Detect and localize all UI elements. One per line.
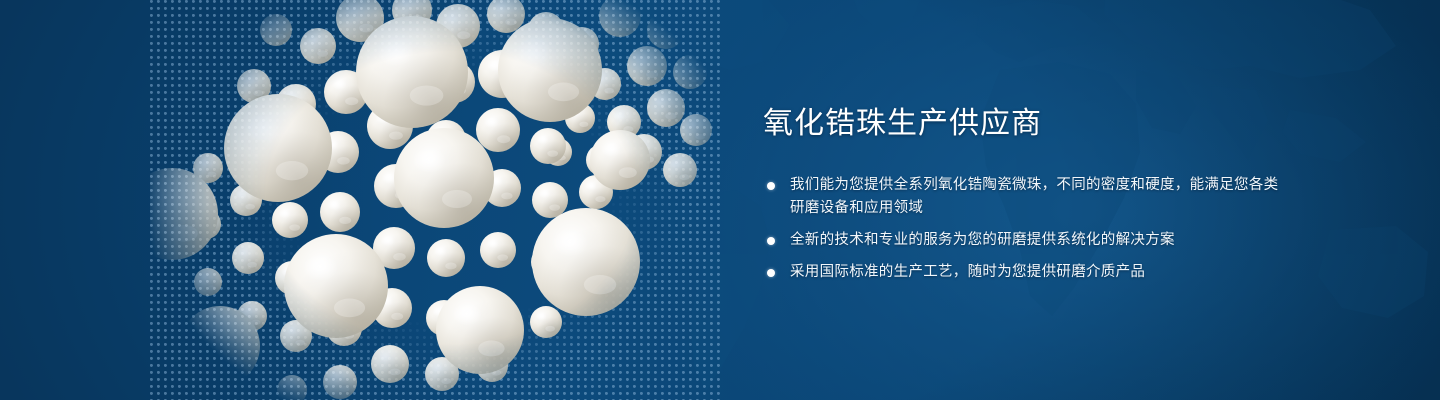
zirconia-beads-image	[150, 0, 720, 400]
hero-banner: 氧化锆珠生产供应商 我们能为您提供全系列氧化锆陶瓷微珠，不同的密度和硬度，能满足…	[0, 0, 1440, 400]
list-item: 采用国际标准的生产工艺，随时为您提供研磨介质产品	[763, 261, 1283, 284]
bullet-dot-icon	[767, 182, 775, 190]
page-title: 氧化锆珠生产供应商	[763, 104, 1283, 144]
feature-list: 我们能为您提供全系列氧化锆陶瓷微珠，不同的密度和硬度，能满足您各类研磨设备和应用…	[763, 174, 1283, 284]
list-item-label: 我们能为您提供全系列氧化锆陶瓷微珠，不同的密度和硬度，能满足您各类研磨设备和应用…	[790, 174, 1283, 220]
list-item-label: 采用国际标准的生产工艺，随时为您提供研磨介质产品	[790, 261, 1283, 284]
bullet-dot-icon	[767, 237, 775, 245]
bullet-dot-icon	[767, 269, 775, 277]
list-item-label: 全新的技术和专业的服务为您的研磨提供系统化的解决方案	[790, 229, 1283, 252]
list-item: 我们能为您提供全系列氧化锆陶瓷微珠，不同的密度和硬度，能满足您各类研磨设备和应用…	[763, 174, 1283, 220]
list-item: 全新的技术和专业的服务为您的研磨提供系统化的解决方案	[763, 229, 1283, 252]
banner-copy: 氧化锆珠生产供应商 我们能为您提供全系列氧化锆陶瓷微珠，不同的密度和硬度，能满足…	[763, 104, 1283, 284]
beads-photo	[150, 0, 720, 400]
